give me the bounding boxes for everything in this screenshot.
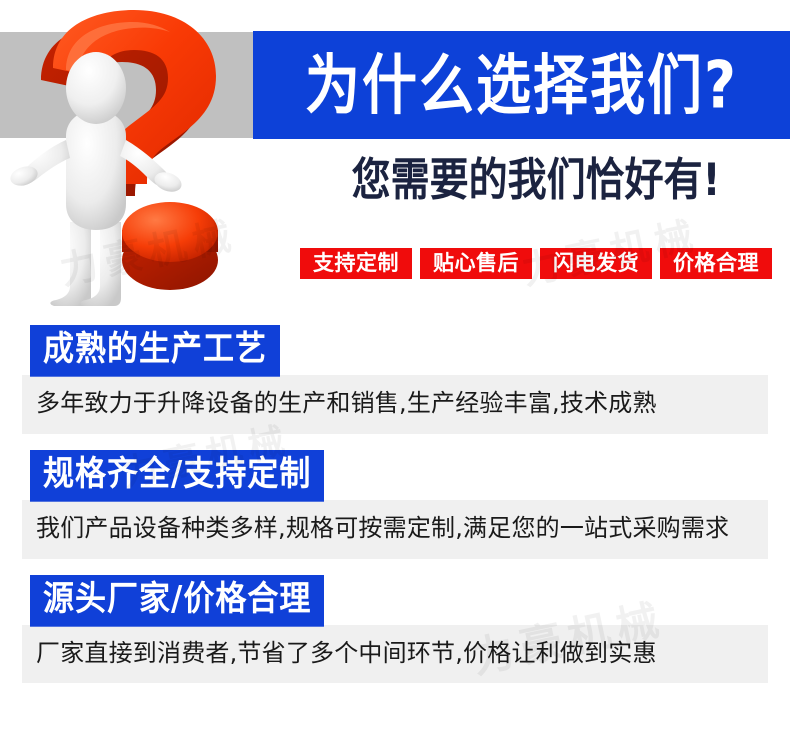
hero-section: 为什么选择我们? 您需要的我们恰好有! 支持定制 贴心售后 闪电发货 价格合理 (0, 0, 790, 320)
hero-banner: 为什么选择我们? (253, 31, 790, 139)
tag-fast-shipping: 闪电发货 (540, 248, 652, 279)
feature-block-production-process: 成熟的生产工艺 多年致力于升降设备的生产和销售,生产经验丰富,技术成熟 (0, 325, 790, 434)
hero-banner-title: 为什么选择我们? (305, 53, 738, 118)
feature-body-production-process: 多年致力于升降设备的生产和销售,生产经验丰富,技术成熟 (22, 375, 768, 434)
question-mark-illustration (0, 0, 256, 320)
question-mark-mascot-icon (8, 8, 256, 318)
feature-heading-full-specs: 规格齐全/支持定制 (30, 450, 324, 502)
tag-custom-support: 支持定制 (300, 248, 412, 279)
feature-block-source-factory: 源头厂家/价格合理 厂家直接到消费者,节省了多个中间环节,价格让利做到实惠 (0, 575, 790, 684)
feature-block-full-specs: 规格齐全/支持定制 我们产品设备种类多样,规格可按需定制,满足您的一站式采购需求 (0, 450, 790, 559)
features-section: 成熟的生产工艺 多年致力于升降设备的生产和销售,生产经验丰富,技术成熟 规格齐全… (0, 325, 790, 699)
hero-subtitle: 您需要的我们恰好有! (300, 158, 772, 203)
tag-fair-price: 价格合理 (660, 248, 772, 279)
tag-after-sales: 贴心售后 (420, 248, 532, 279)
feature-body-full-specs: 我们产品设备种类多样,规格可按需定制,满足您的一站式采购需求 (22, 500, 768, 559)
feature-body-source-factory: 厂家直接到消费者,节省了多个中间环节,价格让利做到实惠 (22, 625, 768, 684)
promotional-poster: 为什么选择我们? 您需要的我们恰好有! 支持定制 贴心售后 闪电发货 价格合理 … (0, 0, 790, 731)
feature-heading-production-process: 成熟的生产工艺 (30, 325, 280, 377)
selling-point-tag-row: 支持定制 贴心售后 闪电发货 价格合理 (300, 248, 772, 279)
feature-heading-source-factory: 源头厂家/价格合理 (30, 575, 324, 627)
